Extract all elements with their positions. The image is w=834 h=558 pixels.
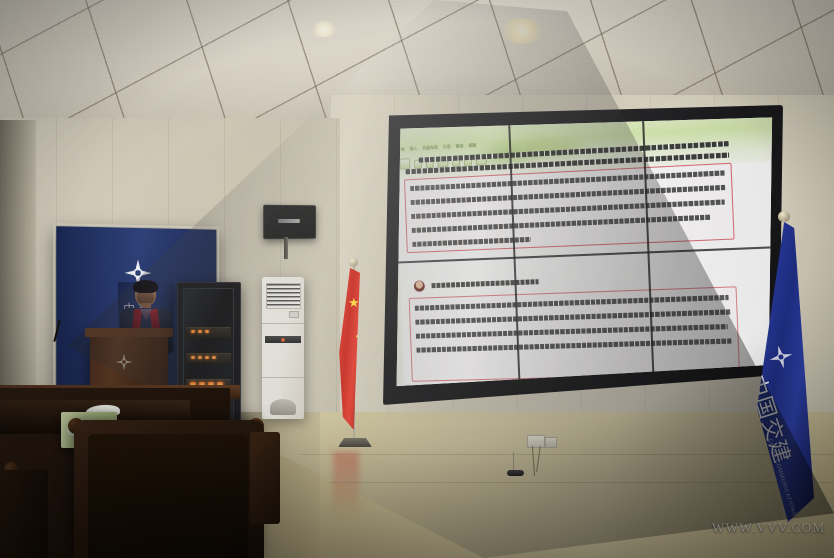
watermark: WWW.VVV.COM [712, 520, 826, 536]
chair-backrest [88, 434, 248, 558]
left-wall-shadow [0, 120, 36, 420]
company-logo-icon [765, 341, 797, 373]
chair-armrest [250, 432, 280, 524]
conference-chair [74, 420, 264, 558]
chair-left-side [0, 470, 48, 558]
conference-room-photo: 中交 诚信图存 [0, 0, 834, 558]
